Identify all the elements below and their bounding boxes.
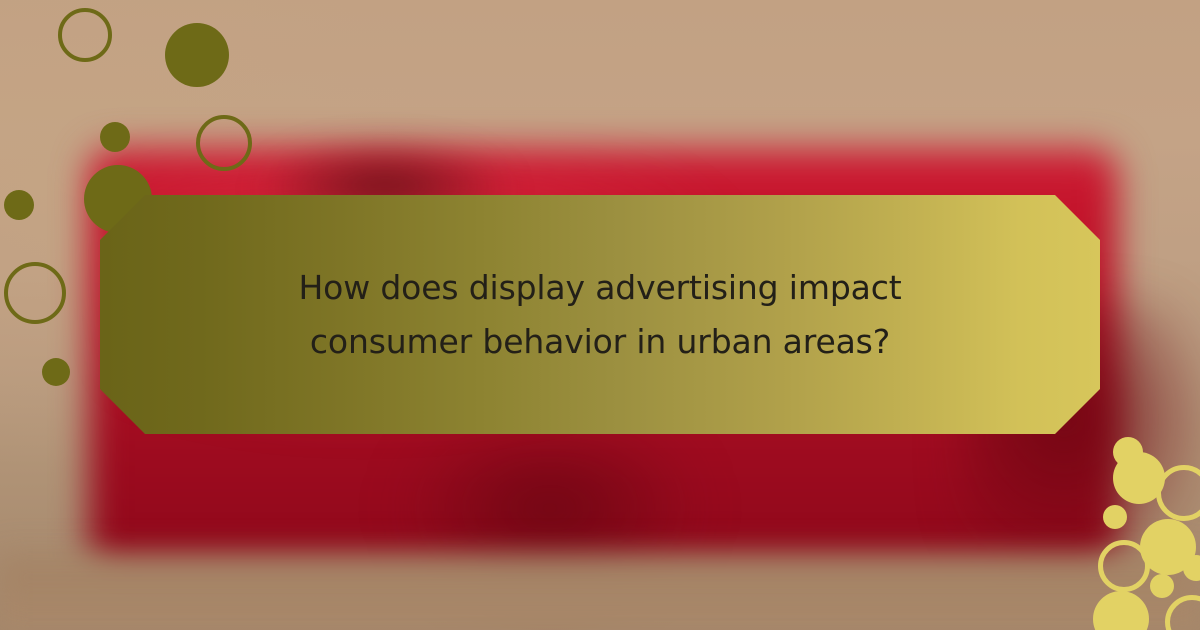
decoration-circle [196,115,252,171]
decoration-circle [1103,505,1127,529]
decoration-circle [58,8,112,62]
decoration-circle [1098,540,1150,592]
decoration-circle [4,262,66,324]
promo-card: How does display advertising impact cons… [0,0,1200,630]
decoration-circle [165,23,229,87]
decoration-circle [1150,574,1174,598]
decoration-circle [4,190,34,220]
background-table-edge [0,560,1200,630]
headline-text: How does display advertising impact cons… [270,261,930,368]
decoration-circle [100,122,130,152]
headline-banner: How does display advertising impact cons… [100,195,1100,434]
decoration-circle [42,358,70,386]
